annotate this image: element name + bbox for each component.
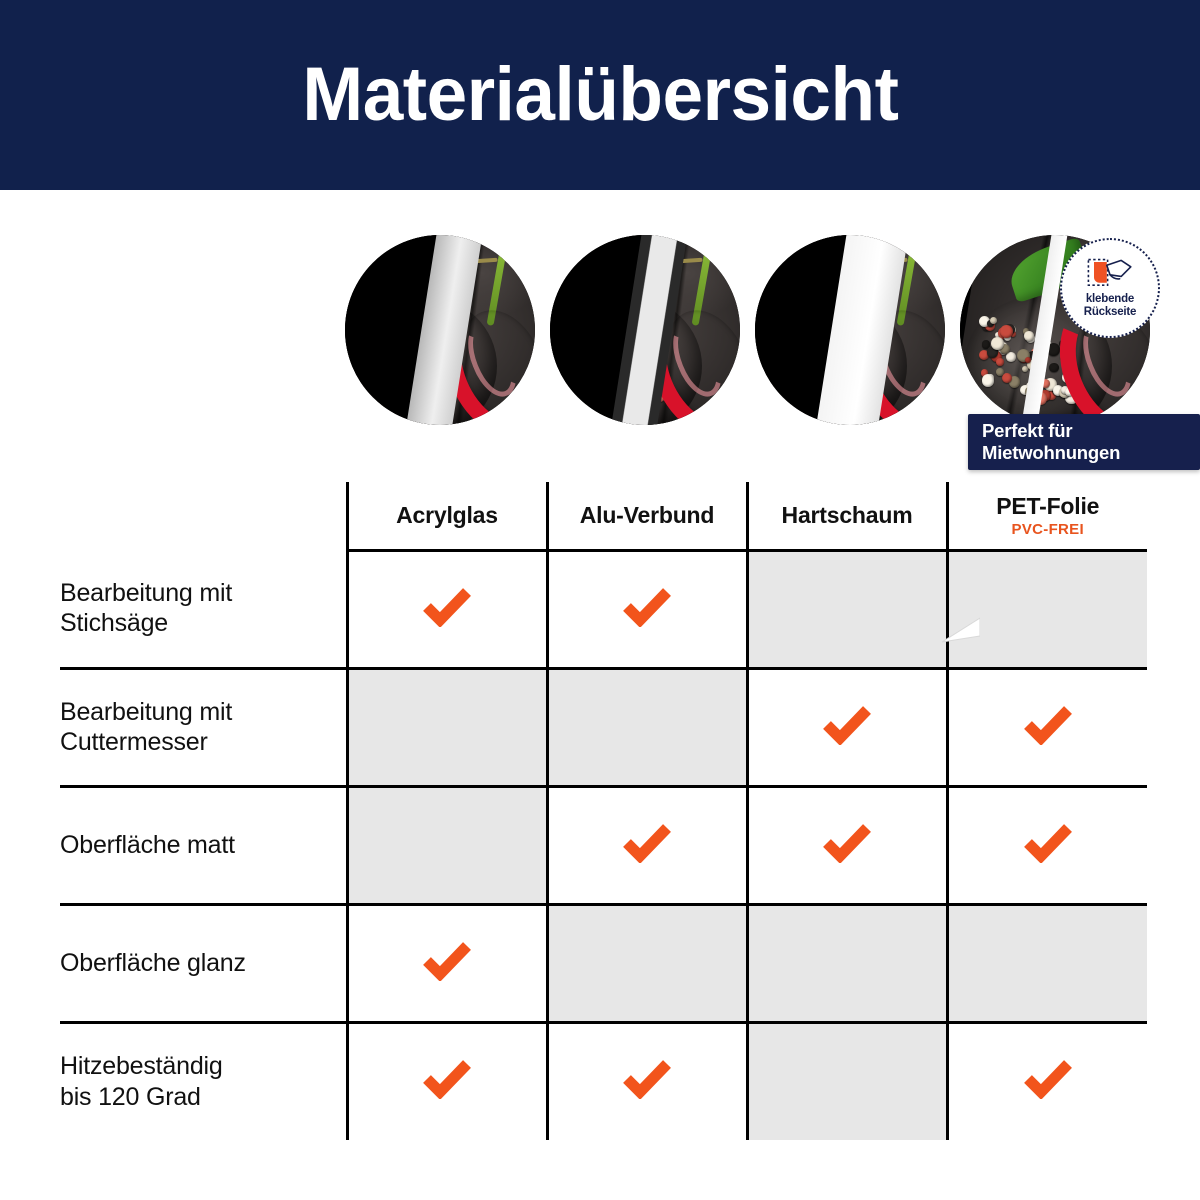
check-mark-icon <box>821 705 873 745</box>
cell-r1-c1 <box>547 668 747 786</box>
klebende-rueckseite-badge: klebende Rückseite <box>1060 238 1160 338</box>
peppercorn <box>383 372 390 379</box>
cell-r3-c0 <box>347 904 547 1022</box>
peppercorn <box>1000 325 1013 338</box>
row-label-line-2: Stichsäge <box>60 609 168 637</box>
peppercorn <box>827 372 834 379</box>
material-overview-infographic: Materialübersicht <box>0 0 1200 1200</box>
row-label-line-1: Bearbeitung mit <box>60 698 232 726</box>
cell-r3-c2 <box>747 904 947 1022</box>
cell-r4-c0 <box>347 1022 547 1140</box>
material-comparison-table: Acrylglas Alu-Verbund Hartschaum PET-Fol… <box>60 482 1147 1140</box>
page-title: Materialübersicht <box>302 57 898 133</box>
cell-r3-c1 <box>547 904 747 1022</box>
peel-sticker-icon <box>1086 257 1134 291</box>
peppercorn <box>375 321 384 330</box>
peppercorn <box>982 374 994 386</box>
peppercorn <box>813 350 821 358</box>
peppercorn <box>574 339 582 347</box>
row-label-oberflaeche-matt: Oberfläche matt <box>60 786 347 904</box>
ribbon-line-2: Mietwohnungen <box>982 442 1200 464</box>
cell-r1-c2 <box>747 668 947 786</box>
peppercorn <box>1034 392 1047 405</box>
row-label-line-1: Hitzebeständig <box>60 1052 223 1080</box>
row-label-hitzebestaendig: Hitzebeständig bis 120 Grad <box>60 1022 347 1140</box>
check-mark-icon <box>421 941 473 981</box>
peppercorn <box>394 326 403 335</box>
peppercorn <box>790 368 798 376</box>
peppercorn <box>622 364 635 377</box>
peppercorn <box>604 374 615 385</box>
peppercorn <box>600 359 611 370</box>
column-header-badge-pvc-frei: PVC-FREI <box>949 521 1148 538</box>
header-banner: Materialübersicht <box>0 0 1200 190</box>
peppercorn <box>817 374 826 383</box>
row-label-line-1: Oberfläche glanz <box>60 949 246 977</box>
peppercorn <box>836 392 849 405</box>
peppercorn <box>639 362 650 373</box>
peppercorn <box>406 335 413 342</box>
peppercorn <box>996 358 1003 365</box>
peppercorn <box>1041 339 1050 348</box>
row-label-line-2: Cuttermesser <box>60 728 208 756</box>
check-mark-icon <box>1022 705 1074 745</box>
cell-r1-c0 <box>347 668 547 786</box>
peppercorn <box>576 324 582 330</box>
peppercorn <box>650 391 656 397</box>
peppercorn <box>610 386 619 395</box>
row-label-line-2: bis 120 Grad <box>60 1083 201 1111</box>
column-header-alu-verbund: Alu-Verbund <box>547 482 747 550</box>
check-mark-icon <box>621 1059 673 1099</box>
cell-r1-c3 <box>947 668 1147 786</box>
peppercorn <box>438 343 444 349</box>
table-row: Oberfläche glanz <box>60 904 1147 1022</box>
thumb-acrylglas[interactable] <box>345 235 535 425</box>
product-photo-alu-verbund <box>550 235 740 425</box>
peppercorn <box>408 342 419 353</box>
peppercorn <box>1024 331 1033 340</box>
cell-r4-c2 <box>747 1022 947 1140</box>
peppercorn <box>1025 387 1034 396</box>
peppercorn <box>805 359 815 369</box>
row-label-bearbeitung-stichsaege: Bearbeitung mit Stichsäge <box>60 550 347 668</box>
peppercorn <box>590 361 597 368</box>
table-row: Hitzebeständig bis 120 Grad <box>60 1022 1147 1140</box>
check-mark-icon <box>621 587 673 627</box>
ribbon-line-1: Perfekt für <box>982 420 1200 442</box>
peppercorn <box>802 380 811 389</box>
peppercorn <box>618 347 628 357</box>
column-header-label: Acrylglas <box>396 502 498 528</box>
cell-r2-c1 <box>547 786 747 904</box>
badge-label: klebende Rückseite <box>1084 293 1137 319</box>
row-label-oberflaeche-glanz: Oberfläche glanz <box>60 904 347 1022</box>
check-mark-icon <box>821 823 873 863</box>
cell-r0-c3 <box>947 550 1147 668</box>
cell-r0-c2 <box>747 550 947 668</box>
column-header-pet-folie: PET-Folie PVC-FREI <box>947 482 1147 550</box>
column-header-label: PET-Folie <box>996 493 1099 519</box>
peppercorn <box>387 381 398 392</box>
peppercorn <box>1022 366 1028 372</box>
peppercorn <box>573 362 579 368</box>
peppercorn <box>828 344 835 351</box>
peppercorn <box>367 350 378 361</box>
peppercorn <box>840 370 849 379</box>
column-header-hartschaum: Hartschaum <box>747 482 947 550</box>
peppercorn <box>369 370 378 379</box>
check-mark-icon <box>621 823 673 863</box>
cell-r2-c0 <box>347 786 547 904</box>
cell-r2-c3 <box>947 786 1147 904</box>
badge-line-1: klebende <box>1086 293 1134 305</box>
cell-r2-c2 <box>747 786 947 904</box>
cell-r4-c1 <box>547 1022 747 1140</box>
peppercorn <box>608 345 616 353</box>
peppercorn <box>1049 363 1058 372</box>
row-label-bearbeitung-cuttermesser: Bearbeitung mit Cuttermesser <box>60 668 347 786</box>
column-header-label: Alu-Verbund <box>580 502 715 528</box>
row-label-line-1: Oberfläche matt <box>60 831 235 859</box>
cell-r0-c0 <box>347 550 547 668</box>
peppercorn <box>629 342 640 353</box>
peppercorn <box>436 375 448 387</box>
product-photo-acrylglas <box>345 235 535 425</box>
row-label-line-1: Bearbeitung mit <box>60 579 232 607</box>
column-header-label: Hartschaum <box>782 502 913 528</box>
peppercorn <box>850 394 858 402</box>
peppercorn <box>1006 352 1016 362</box>
table-row: Bearbeitung mit Cuttermesser <box>60 668 1147 786</box>
thumb-alu-verbund[interactable] <box>550 235 740 425</box>
peppercorn <box>398 367 409 378</box>
peppercorn <box>847 384 855 392</box>
cell-r4-c3 <box>947 1022 1147 1140</box>
peppercorn <box>776 375 783 382</box>
peppercorn <box>418 334 430 346</box>
peppercorn <box>1038 367 1046 375</box>
peppercorn <box>990 317 997 324</box>
column-header-acrylglas: Acrylglas <box>347 482 547 550</box>
table-header-row: Acrylglas Alu-Verbund Hartschaum PET-Fol… <box>60 482 1147 550</box>
cell-r0-c1 <box>547 550 747 668</box>
table-row: Bearbeitung mit Stichsäge <box>60 550 1147 668</box>
cell-r3-c3 <box>947 904 1147 1022</box>
peppercorn <box>631 391 641 401</box>
peppercorn <box>591 373 602 384</box>
peppercorn <box>991 337 1004 350</box>
ribbon-tail <box>940 614 980 644</box>
table-row: Oberfläche matt <box>60 786 1147 904</box>
table-corner-cell <box>60 482 347 550</box>
peppercorn <box>597 332 604 339</box>
badge-line-2: Rückseite <box>1084 306 1137 318</box>
perfekt-fuer-mietwohnungen-ribbon: Perfekt für Mietwohnungen <box>968 414 1200 470</box>
peppercorn <box>816 363 825 372</box>
product-photo-hartschaum <box>755 235 945 425</box>
peppercorn <box>1041 379 1050 388</box>
check-mark-icon <box>1022 1059 1074 1099</box>
check-mark-icon <box>421 587 473 627</box>
peppercorn <box>779 348 786 355</box>
peppercorn <box>392 356 399 363</box>
thumb-hartschaum[interactable] <box>755 235 945 425</box>
peppercorn <box>382 341 393 352</box>
check-mark-icon <box>1022 823 1074 863</box>
check-mark-icon <box>421 1059 473 1099</box>
